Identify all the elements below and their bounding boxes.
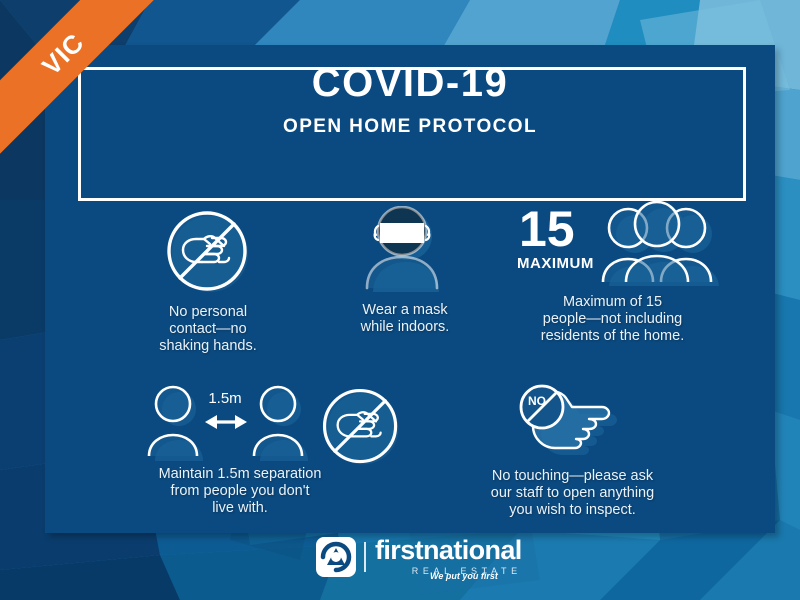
caption-line: Maximum of 15 [505, 294, 720, 311]
two-people-distance-icon: 1.5m [147, 382, 333, 462]
item-no-touching: NO No touching—please ask our staff to o… [440, 382, 705, 519]
max-number-text: 15 [519, 201, 575, 257]
no-label-text: NO [528, 394, 546, 408]
no-pointing-hand-icon: NO [513, 382, 633, 462]
caption-line: people—not including [505, 311, 720, 328]
caption-line: residents of the home. [505, 328, 720, 345]
infographic-poster: COVID-19 OPEN HOME PROTOCOL No personal … [0, 0, 800, 600]
person-face-mask-icon [350, 206, 460, 292]
caption-line: live with. [110, 500, 370, 517]
logo-name: firstnational [375, 537, 522, 564]
no-handshake-icon [162, 206, 254, 298]
caption: No touching—please ask our staff to open… [440, 468, 705, 519]
caption-line: Wear a mask [315, 302, 495, 319]
caption-line: No touching—please ask [440, 468, 705, 485]
caption: Maintain 1.5m separation from people you… [110, 466, 370, 517]
caption: Wear a mask while indoors. [315, 302, 495, 336]
caption-line: while indoors. [315, 319, 495, 336]
caption-line: No personal [118, 304, 298, 321]
header: COVID-19 OPEN HOME PROTOCOL [45, 60, 775, 140]
distance-label-text: 1.5m [208, 390, 241, 407]
caption: Maximum of 15 people—not including resid… [505, 294, 720, 345]
logo-tagline: We put you first [430, 571, 498, 581]
caption-line: contact—no [118, 321, 298, 338]
max-label-text: MAXIMUM [517, 255, 594, 272]
caption-line: you wish to inspect. [440, 502, 705, 519]
first-national-logo-icon [315, 536, 357, 578]
page-title: COVID-19 [45, 60, 775, 106]
caption-line: our staff to open anything [440, 485, 705, 502]
item-wear-mask: Wear a mask while indoors. [315, 206, 495, 336]
caption-line: shaking hands. [118, 338, 298, 355]
caption-line: from people you don't [110, 483, 370, 500]
no-handshake-icon-secondary [318, 384, 404, 470]
three-people-icon: 15 MAXIMUM [507, 198, 719, 286]
caption: No personal contact—no shaking hands. [118, 304, 298, 355]
logo-divider [364, 542, 366, 572]
page-subtitle: OPEN HOME PROTOCOL [45, 114, 775, 140]
item-max-people: 15 MAXIMUM [505, 198, 720, 345]
item-no-contact: No personal contact—no shaking hands. [118, 206, 298, 355]
